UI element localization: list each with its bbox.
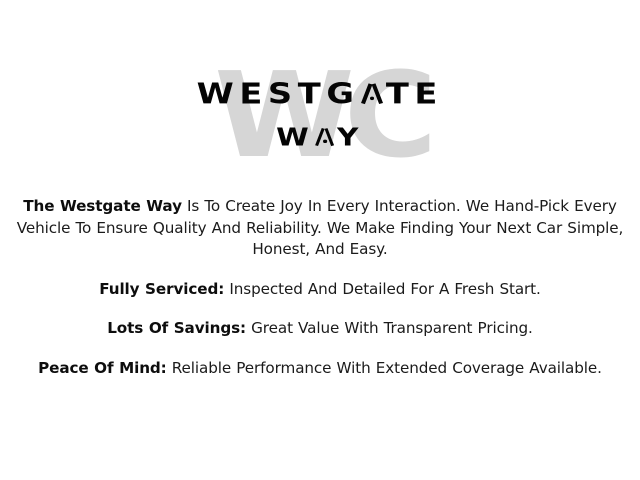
paragraph-fully-serviced: Fully Serviced: Inspected And Detailed F…	[10, 279, 630, 301]
paragraph-lead: The Westgate Way	[23, 197, 182, 215]
stylised-a-glyph-icon	[314, 127, 336, 145]
wordmark-westgate-after-a: TE	[386, 77, 443, 111]
wordmark-way-after-a: Y	[337, 122, 364, 151]
stylised-a-glyph-icon	[360, 83, 385, 103]
wordmark-way-before-a: W	[276, 122, 314, 151]
paragraph-westgate-way: The Westgate Way Is To Create Joy In Eve…	[10, 196, 630, 261]
body-copy: The Westgate Way Is To Create Joy In Eve…	[10, 196, 630, 379]
paragraph-body: Great Value With Transparent Pricing.	[246, 319, 533, 337]
paragraph-lead: Peace Of Mind:	[38, 359, 167, 377]
westgate-way-wordmark: WESTGTE WY	[0, 52, 640, 177]
paragraph-lead: Fully Serviced:	[99, 280, 224, 298]
wordmark-line-westgate: WESTGTE	[197, 79, 443, 109]
page-root: WC WESTGTE WY The Westgate Way Is To Cre…	[0, 0, 640, 480]
wordmark-westgate-before-a: WESTG	[197, 77, 360, 111]
paragraph-lead: Lots Of Savings:	[107, 319, 246, 337]
wordmark-line-way: WY	[276, 124, 363, 150]
paragraph-lots-of-savings: Lots Of Savings: Great Value With Transp…	[10, 318, 630, 340]
paragraph-body: Inspected And Detailed For A Fresh Start…	[224, 280, 541, 298]
paragraph-body: Reliable Performance With Extended Cover…	[167, 359, 602, 377]
paragraph-peace-of-mind: Peace Of Mind: Reliable Performance With…	[10, 358, 630, 380]
brand-lockup: WC WESTGTE WY	[0, 52, 640, 177]
